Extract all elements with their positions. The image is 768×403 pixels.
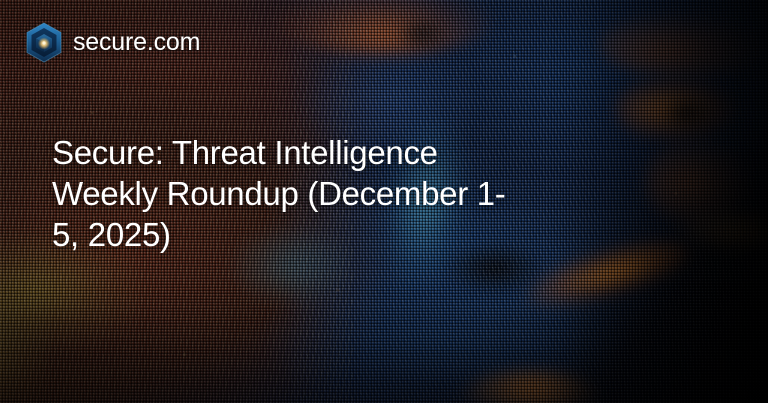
page-title-line-3: 5, 2025) (52, 214, 592, 255)
hexagon-cube-icon (25, 22, 63, 63)
brand-wordmark: secure.com (73, 30, 200, 55)
brand-logo[interactable]: secure.com (25, 22, 200, 63)
hero-banner: secure.com Secure: Threat Intelligence W… (0, 0, 768, 403)
page-title: Secure: Threat Intelligence Weekly Round… (52, 132, 592, 255)
page-title-line-2: Weekly Roundup (December 1- (52, 173, 592, 214)
page-title-line-1: Secure: Threat Intelligence (52, 132, 592, 173)
